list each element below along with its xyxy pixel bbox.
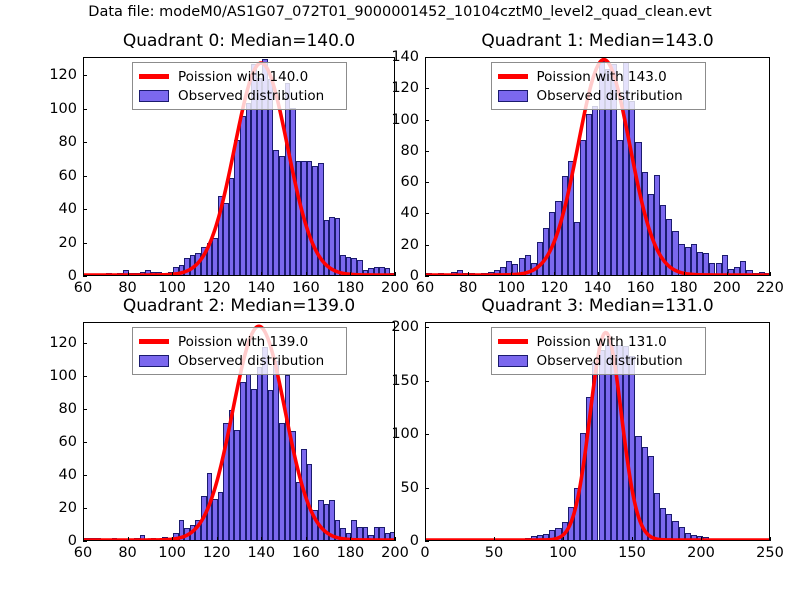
x-tick-label: 100 bbox=[549, 545, 577, 561]
y-tick-label: 150 bbox=[391, 373, 419, 389]
x-tick-label: 150 bbox=[618, 545, 646, 561]
legend-quadrant-3: Poission with 131.0Observed distribution bbox=[491, 327, 706, 375]
y-tick-mark bbox=[425, 381, 429, 382]
y-tick-mark bbox=[425, 541, 429, 542]
x-tick-mark bbox=[425, 537, 426, 541]
x-tick-mark bbox=[494, 537, 495, 541]
x-tick-mark bbox=[563, 537, 564, 541]
legend-patch-icon bbox=[498, 355, 528, 367]
x-tick-label: 250 bbox=[756, 545, 784, 561]
plot-area-quadrant-3: Poission with 131.0Observed distribution bbox=[425, 322, 770, 541]
figure-canvas: Data file: modeM0/AS1G07_072T01_90000014… bbox=[0, 0, 800, 600]
y-tick-mark bbox=[425, 327, 429, 328]
subplot-quadrant-3: Quadrant 3: Median=131.0Poission with 13… bbox=[0, 0, 800, 600]
y-tick-label: 50 bbox=[401, 480, 419, 496]
legend-label-poisson: Poission with 131.0 bbox=[537, 334, 667, 350]
x-tick-label: 200 bbox=[687, 545, 715, 561]
x-tick-label: 50 bbox=[485, 545, 503, 561]
subplot-title-quadrant-3: Quadrant 3: Median=131.0 bbox=[405, 296, 790, 316]
y-tick-label: 0 bbox=[410, 533, 419, 549]
y-tick-label: 100 bbox=[391, 426, 419, 442]
x-tick-mark bbox=[632, 537, 633, 541]
legend-line-icon bbox=[498, 339, 528, 344]
x-tick-label: 0 bbox=[420, 545, 429, 561]
legend-entry-poisson: Poission with 131.0 bbox=[498, 332, 698, 351]
legend-entry-observed: Observed distribution bbox=[498, 351, 698, 370]
y-tick-mark bbox=[425, 434, 429, 435]
y-tick-mark bbox=[425, 488, 429, 489]
x-tick-mark bbox=[701, 537, 702, 541]
x-tick-mark bbox=[770, 537, 771, 541]
y-tick-label: 200 bbox=[391, 319, 419, 335]
legend-label-observed: Observed distribution bbox=[537, 353, 683, 369]
